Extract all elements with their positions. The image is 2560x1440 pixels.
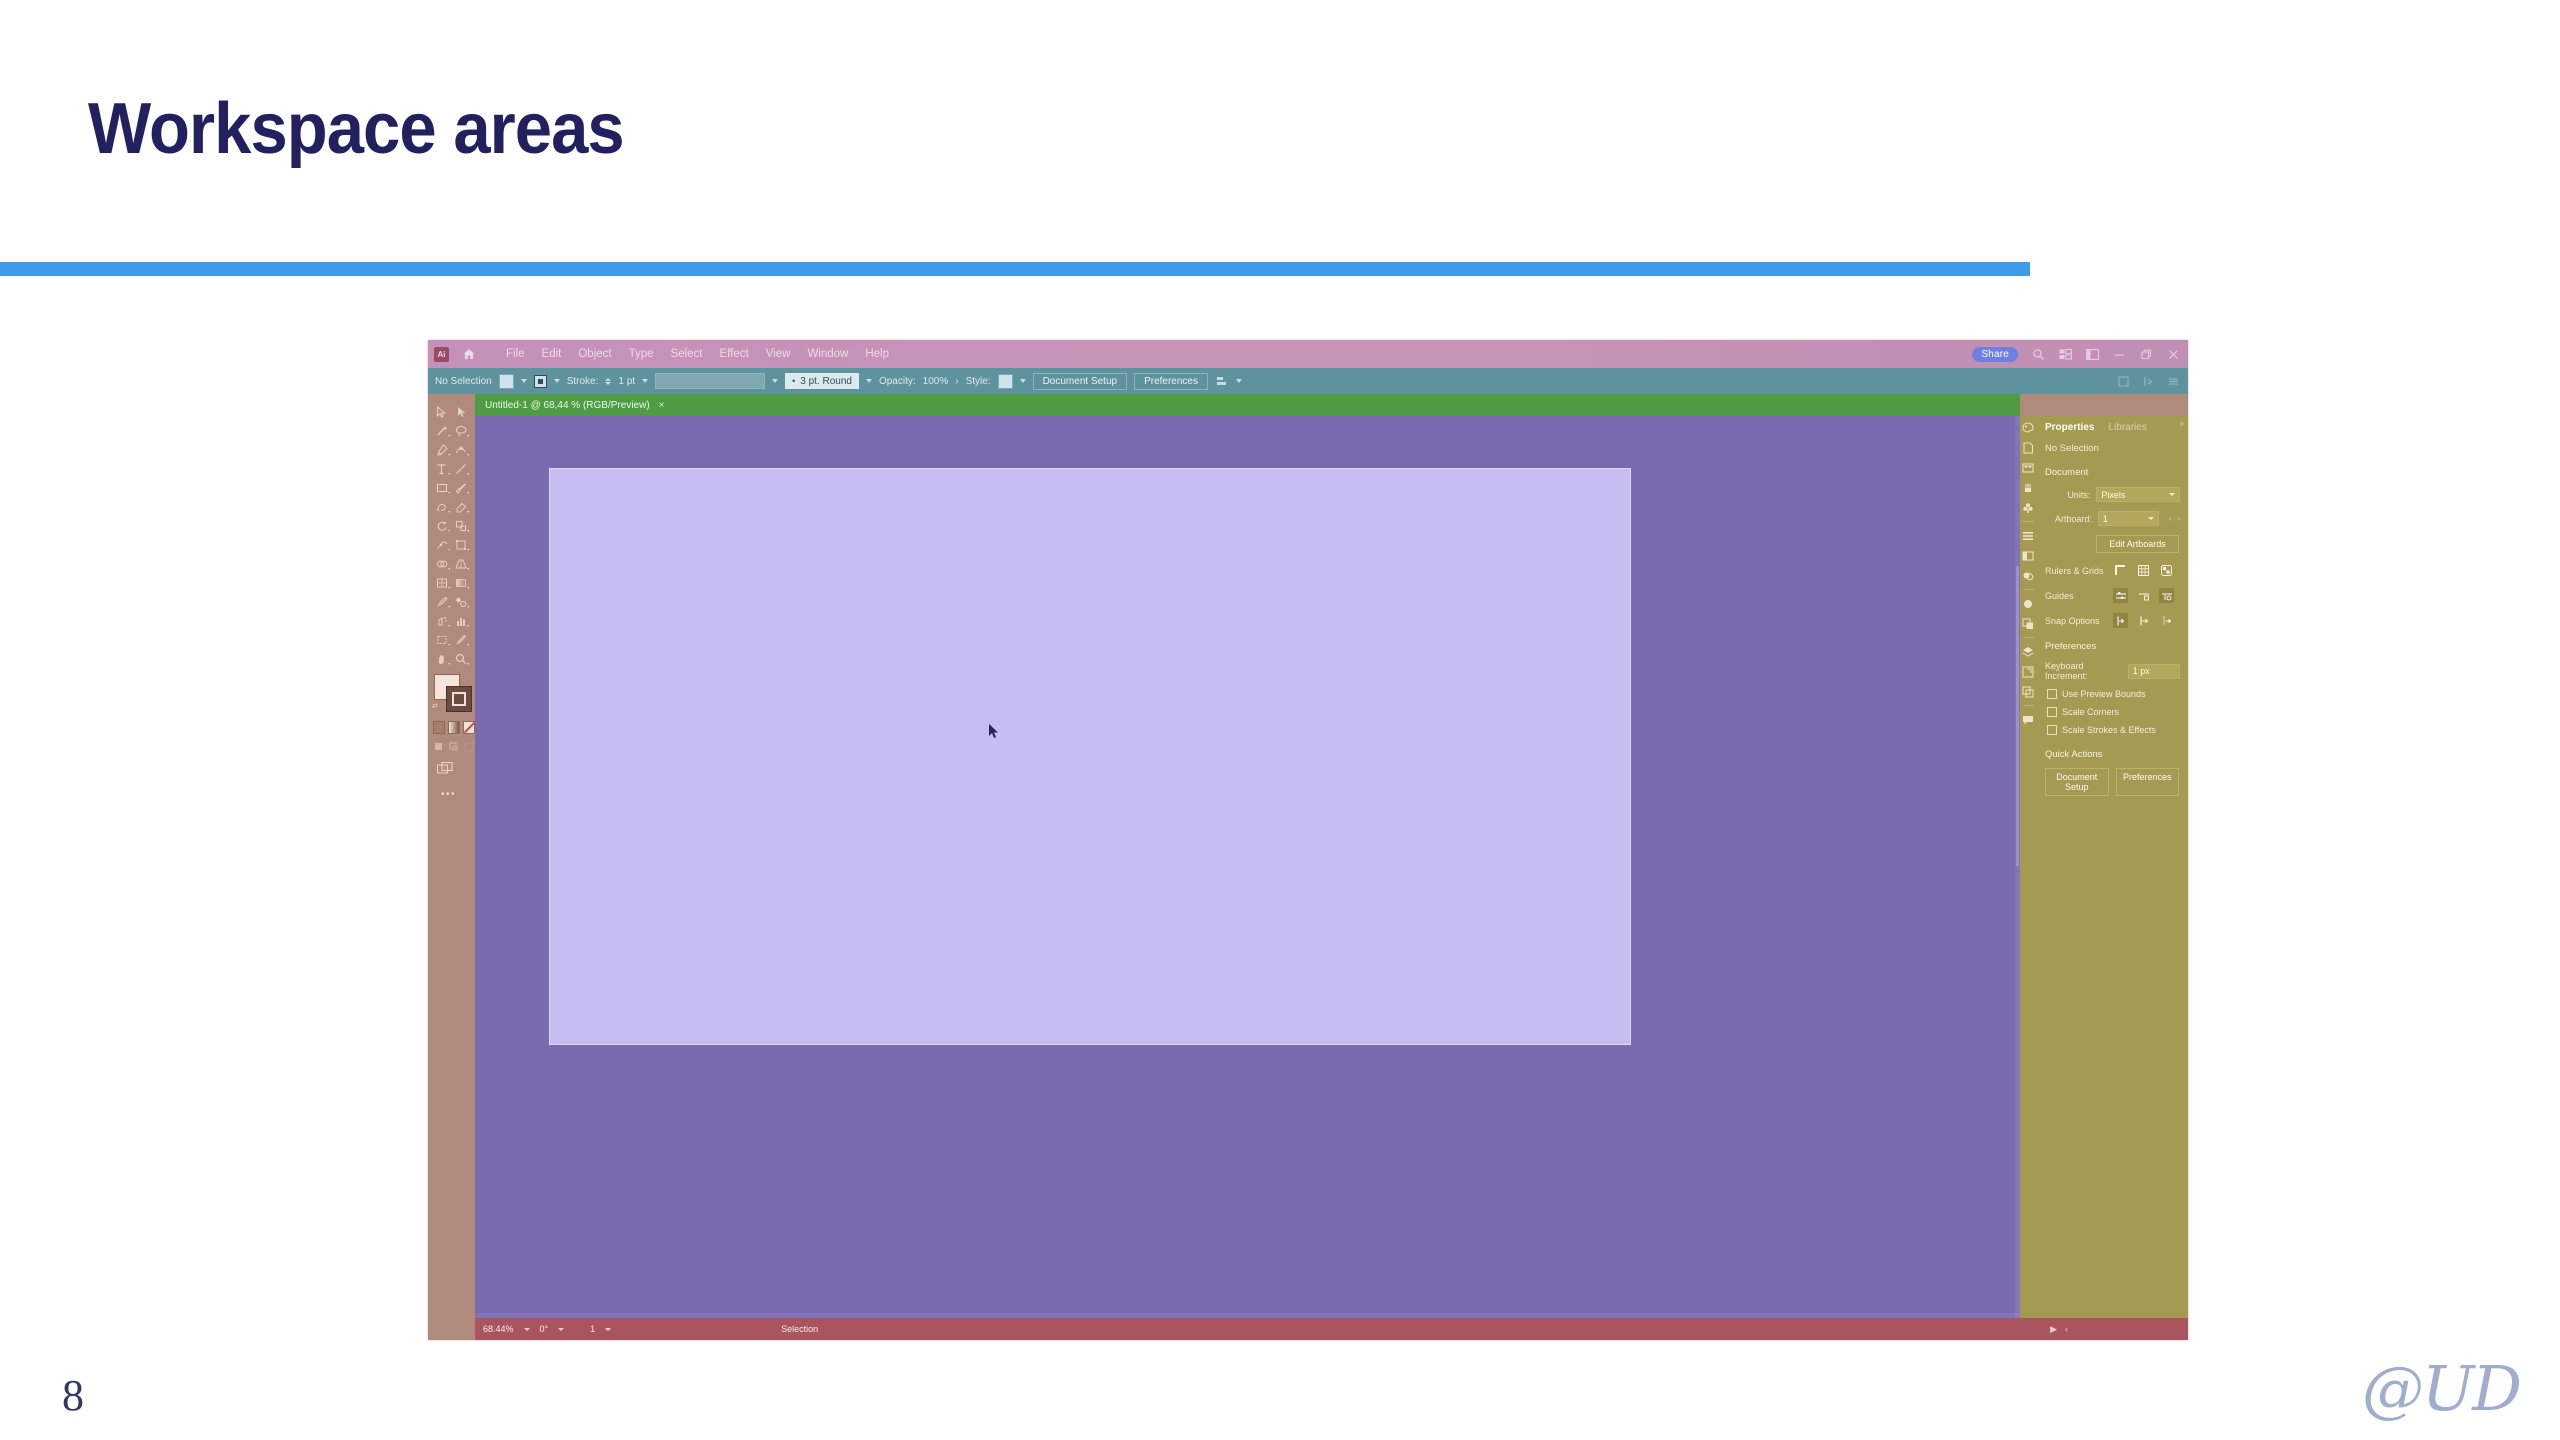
comments-panel-icon[interactable] xyxy=(2022,713,2035,726)
brushes-panel-icon[interactable] xyxy=(2022,481,2035,494)
show-grid-icon[interactable] xyxy=(2136,563,2151,578)
mesh-tool[interactable] xyxy=(432,574,452,591)
panel-selection-state: No Selection xyxy=(2036,433,2188,454)
collapse-panel-icon[interactable]: » xyxy=(2180,419,2184,428)
status-bar: 68.44% 0° 1 Selection ▶ ‹ xyxy=(475,1318,2188,1340)
grid-options-icon[interactable] xyxy=(2116,374,2130,388)
scale-strokes-effects-checkbox[interactable] xyxy=(2047,725,2057,735)
show-rulers-icon[interactable] xyxy=(2113,563,2128,578)
transparency-panel-icon[interactable] xyxy=(2022,597,2035,610)
status-bar-nav[interactable]: ▶ ‹ xyxy=(2050,1324,2068,1335)
symbols-panel-icon[interactable] xyxy=(2022,501,2035,514)
snap-options-label: Snap Options xyxy=(2045,616,2105,626)
blend-tool[interactable] xyxy=(452,593,472,610)
color-mode-none-icon[interactable] xyxy=(463,721,475,734)
scale-strokes-effects-label: Scale Strokes & Effects xyxy=(2062,725,2156,735)
chevron-down-icon xyxy=(2148,517,2154,520)
asset-export-panel-icon[interactable] xyxy=(2022,685,2035,698)
scale-corners-label: Scale Corners xyxy=(2062,707,2119,717)
title-underline-rule xyxy=(0,262,2030,276)
rulers-grids-row: Rulers & Grids xyxy=(2036,553,2188,578)
scrollbar-thumb[interactable] xyxy=(2016,566,2019,866)
snap-to-grid-icon[interactable] xyxy=(2136,613,2151,628)
artboard[interactable] xyxy=(549,468,1631,1045)
guides-label: Guides xyxy=(2045,591,2105,601)
magic-wand-tool[interactable] xyxy=(432,422,452,439)
artboard-select[interactable]: 1 xyxy=(2098,511,2159,526)
variable-width-profile-field[interactable] xyxy=(655,373,765,389)
document-tab-title: Untitled-1 @ 68,44 % (RGB/Preview) xyxy=(485,400,650,411)
rotate-tool[interactable] xyxy=(432,517,452,534)
scale-corners-row[interactable]: Scale Corners xyxy=(2036,699,2188,717)
column-graph-tool[interactable] xyxy=(452,612,472,629)
artboard-row: Artboard: 1 ‹ › xyxy=(2036,502,2188,526)
document-tab-bar: Untitled-1 @ 68,44 % (RGB/Preview) × xyxy=(475,394,2020,416)
quick-actions-heading: Quick Actions xyxy=(2036,735,2188,760)
panel-tab-bar: Properties Libraries xyxy=(2036,416,2188,433)
width-tool[interactable] xyxy=(432,536,452,553)
slide-number: 8 xyxy=(62,1370,84,1421)
selection-tool[interactable] xyxy=(432,403,452,420)
close-icon[interactable] xyxy=(2166,347,2180,361)
document-tab[interactable]: Untitled-1 @ 68,44 % (RGB/Preview) × xyxy=(475,394,675,416)
smart-guides-icon[interactable] xyxy=(2159,613,2174,628)
properties-panel: » Properties Libraries No Selection Docu… xyxy=(2036,416,2188,1318)
units-value: Pixels xyxy=(2101,490,2125,500)
draw-behind-icon[interactable] xyxy=(448,740,459,754)
scale-tool[interactable] xyxy=(452,517,472,534)
rulers-grids-label: Rulers & Grids xyxy=(2045,566,2105,576)
links-panel-icon[interactable] xyxy=(2022,665,2035,678)
restore-icon[interactable] xyxy=(2139,347,2153,361)
artboard-value: 1 xyxy=(2103,514,2108,524)
brush-definition-field[interactable]: • 3 pt. Round xyxy=(785,373,859,389)
artboard-tool[interactable] xyxy=(432,631,452,648)
menu-item-select[interactable]: Select xyxy=(671,348,703,360)
free-transform-tool[interactable] xyxy=(452,536,472,553)
color-mode-solid-icon[interactable] xyxy=(433,721,445,734)
lasso-tool[interactable] xyxy=(452,422,472,439)
fill-dropdown-caret-icon[interactable] xyxy=(521,379,527,383)
tab-libraries[interactable]: Libraries xyxy=(2108,422,2146,433)
swap-fill-stroke-icon[interactable]: ⇄ xyxy=(432,702,438,710)
gradient-tool[interactable] xyxy=(452,574,472,591)
dock-divider xyxy=(2023,705,2034,706)
document-section-heading: Document xyxy=(2036,454,2188,478)
screen-mode-icon[interactable] xyxy=(437,762,475,780)
control-bar: No Selection Stroke: 1 pt • 3 pt. Round … xyxy=(428,368,2188,394)
fill-stroke-control: ⇄ xyxy=(432,674,475,716)
stroke-weight-value[interactable]: 1 pt xyxy=(618,376,635,387)
menu-item-view[interactable]: View xyxy=(766,348,791,360)
rotation-value[interactable]: 0° xyxy=(540,1324,549,1334)
stroke-dropdown-caret-icon[interactable] xyxy=(554,379,560,383)
align-caret-icon[interactable] xyxy=(1236,379,1242,383)
style-caret-icon[interactable] xyxy=(1020,379,1026,383)
arrow-cursor xyxy=(988,723,1001,745)
panel-dock-rail xyxy=(2020,416,2036,1318)
pathfinder-panel-icon[interactable] xyxy=(2022,569,2035,582)
zoom-level-value[interactable]: 68.44% xyxy=(483,1324,514,1334)
artboard-number-caret-icon[interactable] xyxy=(605,1328,611,1331)
color-panel-icon[interactable] xyxy=(2022,421,2035,434)
menu-item-help[interactable]: Help xyxy=(865,348,889,360)
document-setup-button[interactable]: Document Setup xyxy=(1033,373,1128,390)
menu-item-effect[interactable]: Effect xyxy=(720,348,749,360)
show-guides-icon[interactable] xyxy=(2113,588,2128,603)
scale-strokes-effects-row[interactable]: Scale Strokes & Effects xyxy=(2036,717,2188,735)
control-bar-right xyxy=(2116,374,2180,388)
artboards-panel-icon[interactable] xyxy=(2022,549,2035,562)
dock-divider xyxy=(2023,637,2034,638)
zoom-tool[interactable] xyxy=(452,650,472,667)
units-label: Units: xyxy=(2045,490,2090,500)
minimize-icon[interactable] xyxy=(2112,347,2126,361)
home-icon[interactable] xyxy=(462,347,476,361)
canvas-area[interactable] xyxy=(475,416,2020,1318)
use-preview-bounds-row[interactable]: Use Preview Bounds xyxy=(2036,681,2188,699)
opacity-expand-icon[interactable]: › xyxy=(955,376,958,387)
page-title: Workspace areas xyxy=(88,88,624,170)
dock-divider xyxy=(2023,589,2034,590)
close-tab-icon[interactable]: × xyxy=(659,400,665,411)
workspace-switcher-icon[interactable] xyxy=(2085,347,2099,361)
author-signature: @UD xyxy=(2362,1352,2520,1425)
edit-artboards-row: Edit Artboards xyxy=(2036,526,2188,553)
stroke-label: Stroke: xyxy=(567,376,599,387)
draw-mode-buttons xyxy=(433,740,475,754)
use-preview-bounds-label: Use Preview Bounds xyxy=(2062,689,2146,699)
line-segment-tool[interactable] xyxy=(452,460,472,477)
rotation-caret-icon[interactable] xyxy=(558,1328,564,1331)
eraser-tool[interactable] xyxy=(452,498,472,515)
next-artboard-icon[interactable]: ▶ xyxy=(2050,1324,2057,1335)
selection-state-label: No Selection xyxy=(435,376,492,387)
opacity-value[interactable]: 100% xyxy=(923,376,949,387)
menu-item-object[interactable]: Object xyxy=(578,348,611,360)
zoom-level-caret-icon[interactable] xyxy=(524,1328,530,1331)
tool-grid xyxy=(428,403,475,667)
quick-action-document-setup-button[interactable]: Document Setup xyxy=(2045,768,2109,796)
fill-color-swatch[interactable] xyxy=(499,374,514,389)
align-icon[interactable] xyxy=(1215,374,1229,388)
chevron-down-icon xyxy=(2169,493,2175,496)
layers-panel-icon[interactable] xyxy=(2022,645,2035,658)
tools-panel: ⇄ ••• xyxy=(428,394,475,1318)
app-logo-icon: Ai xyxy=(434,347,449,362)
opacity-label: Opacity: xyxy=(879,376,916,387)
eyedropper-tool[interactable] xyxy=(432,593,452,610)
arrange-documents-icon[interactable] xyxy=(2058,347,2072,361)
swatches-panel-icon[interactable] xyxy=(2022,461,2035,474)
panel-options-icon[interactable] xyxy=(2166,374,2180,388)
menu-item-edit[interactable]: Edit xyxy=(542,348,562,360)
color-mode-buttons xyxy=(433,721,475,734)
shaper-tool[interactable] xyxy=(432,498,452,515)
appearance-panel-icon[interactable] xyxy=(2022,617,2035,630)
menu-item-window[interactable]: Window xyxy=(807,348,848,360)
search-icon[interactable] xyxy=(2031,347,2045,361)
properties-panel-icon[interactable] xyxy=(2022,441,2035,454)
scale-corners-checkbox[interactable] xyxy=(2047,707,2057,717)
dock-divider xyxy=(2023,521,2034,522)
units-row: Units: Pixels xyxy=(2036,478,2188,502)
style-label: Style: xyxy=(966,376,991,387)
stroke-color-swatch[interactable] xyxy=(534,375,547,388)
tool-status-label: Selection xyxy=(781,1324,818,1334)
slice-tool[interactable] xyxy=(452,631,472,648)
make-guides-icon[interactable] xyxy=(2159,588,2174,603)
share-button[interactable]: Share xyxy=(1972,347,2018,362)
preferences-section-heading: Preferences xyxy=(2036,628,2188,652)
use-preview-bounds-checkbox[interactable] xyxy=(2047,689,2057,699)
rectangle-tool[interactable] xyxy=(432,479,452,496)
direct-selection-tool[interactable] xyxy=(452,403,472,420)
keyboard-increment-label: Keyboard Increment: xyxy=(2045,661,2122,681)
illustrator-window: Ai File Edit Object Type Select Effect V… xyxy=(428,340,2188,1340)
control-bar-left: No Selection Stroke: 1 pt • 3 pt. Round … xyxy=(435,373,1242,390)
curvature-tool[interactable] xyxy=(452,441,472,458)
titlebar-controls: Share xyxy=(1972,340,2180,368)
stroke-weight-caret-icon[interactable] xyxy=(642,379,648,383)
ruler-toggle-icon[interactable] xyxy=(2141,374,2155,388)
symbol-sprayer-tool[interactable] xyxy=(432,612,452,629)
menu-item-file[interactable]: File xyxy=(506,348,525,360)
artboard-number-value[interactable]: 1 xyxy=(590,1324,595,1334)
more-tools-icon[interactable]: ••• xyxy=(441,789,475,800)
hand-tool[interactable] xyxy=(432,650,452,667)
quick-actions-buttons: Document Setup Preferences xyxy=(2036,760,2188,796)
align-panel-icon[interactable] xyxy=(2022,529,2035,542)
guides-row: Guides xyxy=(2036,578,2188,603)
quick-action-preferences-button[interactable]: Preferences xyxy=(2116,768,2180,796)
artboard-label: Artboard: xyxy=(2045,514,2092,524)
stroke-swatch[interactable] xyxy=(446,686,472,712)
variable-width-caret-icon[interactable] xyxy=(772,379,778,383)
units-select[interactable]: Pixels xyxy=(2096,487,2180,502)
brush-definition-value: 3 pt. Round xyxy=(800,376,852,387)
keyboard-increment-row: Keyboard Increment: 1 px xyxy=(2036,652,2188,681)
menu-bar: Ai File Edit Object Type Select Effect V… xyxy=(428,340,2188,368)
color-mode-gradient-icon[interactable] xyxy=(448,721,460,734)
snap-to-point-icon[interactable] xyxy=(2113,613,2128,628)
next-artboard-icon: › xyxy=(2177,514,2180,523)
menu-item-type[interactable]: Type xyxy=(629,348,654,360)
artboard-nav-arrows[interactable]: ‹ › xyxy=(2169,514,2180,523)
type-tool[interactable] xyxy=(432,460,452,477)
brush-definition-caret-icon[interactable] xyxy=(866,379,872,383)
perspective-grid-tool[interactable] xyxy=(452,555,472,572)
stroke-weight-stepper[interactable] xyxy=(605,378,611,385)
tab-properties[interactable]: Properties xyxy=(2045,422,2094,433)
show-transparency-grid-icon[interactable] xyxy=(2159,563,2174,578)
draw-normal-icon[interactable] xyxy=(433,740,444,754)
lock-guides-icon[interactable] xyxy=(2136,588,2151,603)
paintbrush-tool[interactable] xyxy=(452,479,472,496)
keyboard-increment-input[interactable]: 1 px xyxy=(2128,664,2180,679)
previous-artboard-icon[interactable]: ‹ xyxy=(2065,1324,2068,1335)
pen-tool[interactable] xyxy=(432,441,452,458)
edit-artboards-button[interactable]: Edit Artboards xyxy=(2096,535,2179,553)
shape-builder-tool[interactable] xyxy=(432,555,452,572)
graphic-style-swatch[interactable] xyxy=(998,374,1013,389)
snap-options-row: Snap Options xyxy=(2036,603,2188,628)
draw-inside-icon[interactable] xyxy=(464,740,475,754)
preferences-button[interactable]: Preferences xyxy=(1134,373,1208,390)
previous-artboard-icon: ‹ xyxy=(2169,514,2172,523)
menu-items: File Edit Object Type Select Effect View… xyxy=(506,348,889,360)
